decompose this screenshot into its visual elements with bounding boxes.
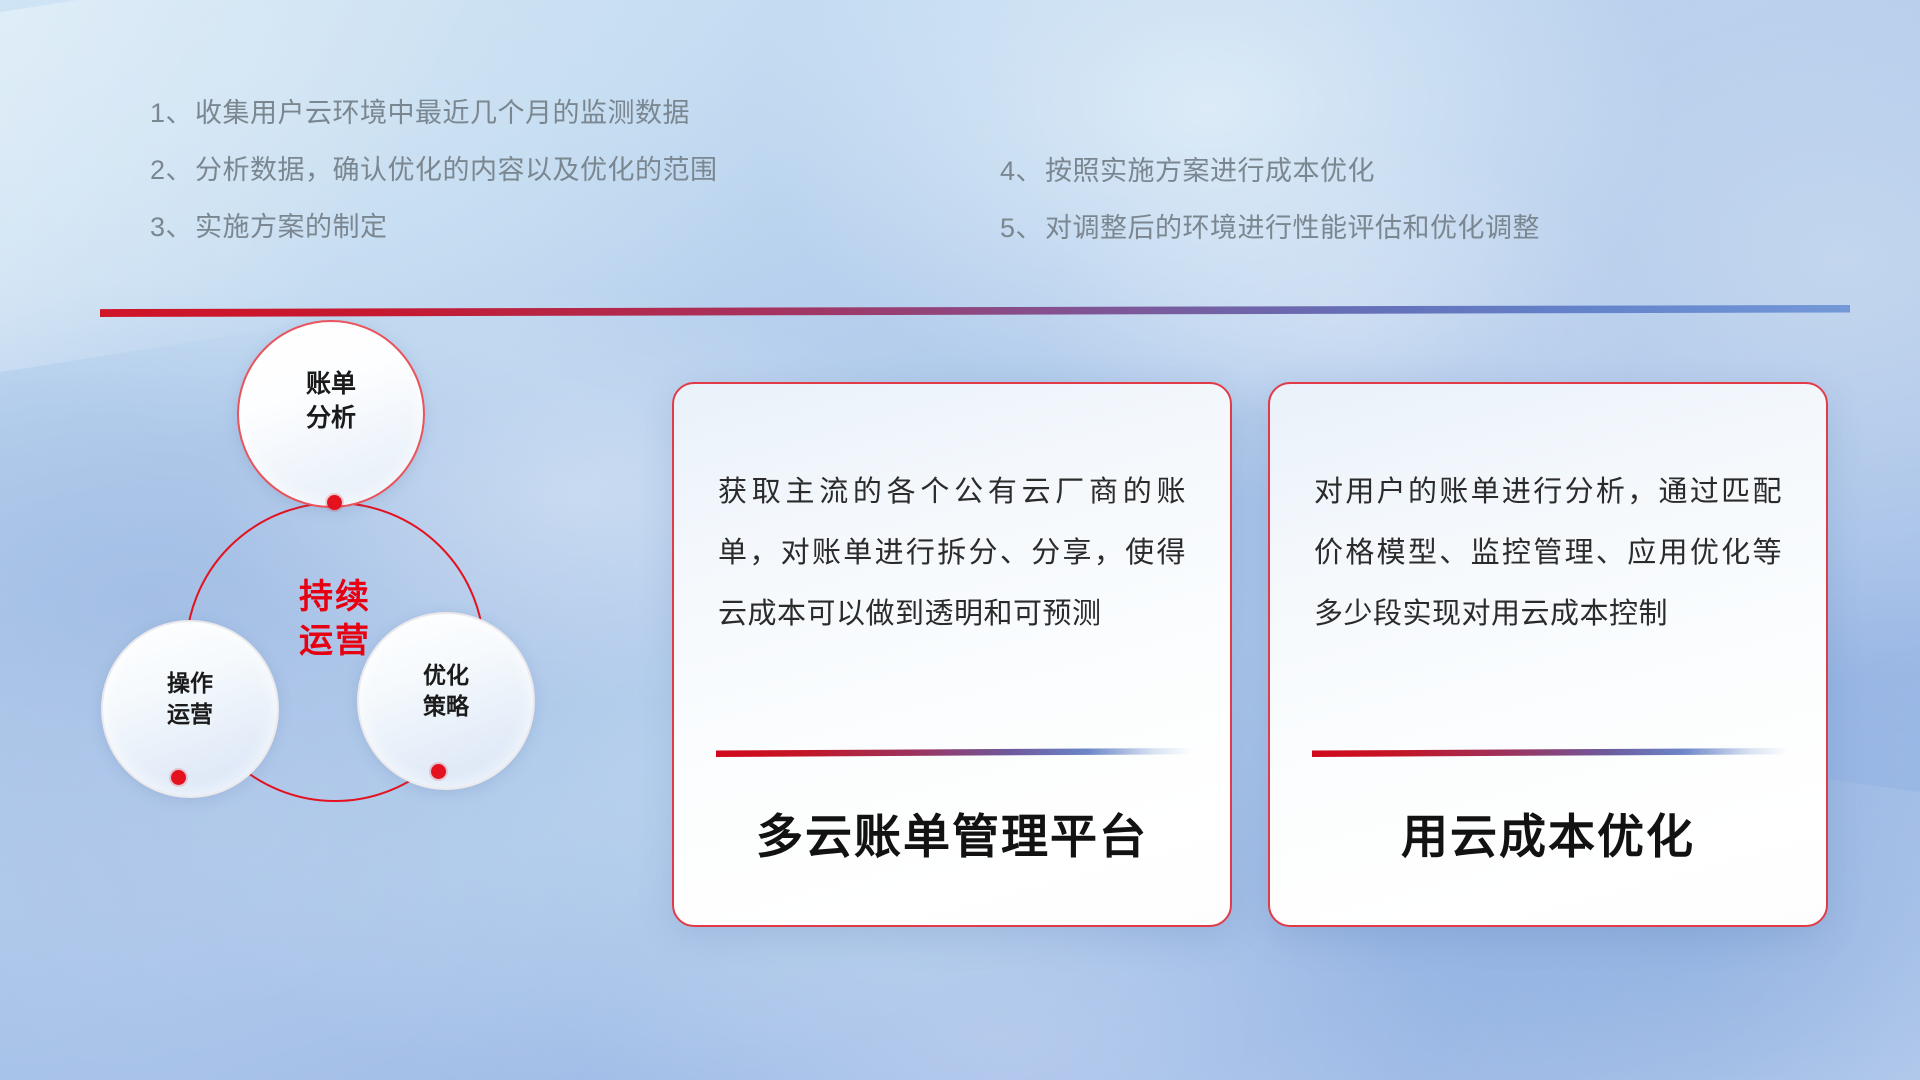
step-number-2: 2、: [150, 155, 193, 185]
venn-diagram: 持续 运营 账单 分析 操作 运营 优化 策略: [95, 340, 595, 920]
venn-connector-dot-top: [327, 495, 342, 510]
venn-node-bill-line2: 分析: [239, 402, 423, 436]
venn-connector-dot-right: [431, 764, 446, 779]
venn-node-opt-line2: 策略: [359, 691, 533, 722]
venn-node-optimization-label: 优化 策略: [359, 660, 533, 722]
venn-connector-dot-left: [171, 770, 186, 785]
slide-canvas: 1、收集用户云环境中最近几个月的监测数据 2、分析数据，确认优化的内容以及优化的…: [0, 0, 1920, 1080]
step-item-4: 4、按照实施方案进行成本优化: [1000, 158, 1540, 185]
feature-card-1-body: 获取主流的各个公有云厂商的账单，对账单进行拆分、分享，使得云成本可以做到透明和可…: [718, 462, 1186, 645]
feature-card-1-title: 多云账单管理平台: [674, 798, 1230, 867]
venn-node-bill-analysis-label: 账单 分析: [239, 368, 423, 436]
step-number-5: 5、: [1000, 213, 1043, 243]
feature-card-2-body: 对用户的账单进行分析，通过匹配价格模型、监控管理、应用优化等多少段实现对用云成本…: [1314, 462, 1782, 645]
venn-node-operations-label: 操作 运营: [103, 668, 277, 730]
venn-node-optimization-strategy[interactable]: 优化 策略: [357, 612, 535, 790]
step-text-5: 对调整后的环境进行性能评估和优化调整: [1045, 213, 1540, 243]
feature-card-multicloud-billing[interactable]: 获取主流的各个公有云厂商的账单，对账单进行拆分、分享，使得云成本可以做到透明和可…: [672, 382, 1232, 927]
step-number-3: 3、: [150, 212, 193, 242]
venn-node-bill-line1: 账单: [239, 368, 423, 402]
venn-node-ops-line1: 操作: [103, 668, 277, 699]
venn-node-bill-analysis[interactable]: 账单 分析: [237, 320, 425, 508]
step-text-2: 分析数据，确认优化的内容以及优化的范围: [195, 155, 718, 185]
venn-node-ops-line2: 运营: [103, 699, 277, 730]
step-text-3: 实施方案的制定: [195, 212, 388, 242]
step-item-5: 5、对调整后的环境进行性能评估和优化调整: [1000, 215, 1540, 242]
step-text-1: 收集用户云环境中最近几个月的监测数据: [195, 98, 690, 128]
steps-list-left: 1、收集用户云环境中最近几个月的监测数据 2、分析数据，确认优化的内容以及优化的…: [150, 100, 718, 271]
venn-node-opt-line1: 优化: [359, 660, 533, 691]
feature-card-2-title: 用云成本优化: [1270, 798, 1826, 867]
step-item-1: 1、收集用户云环境中最近几个月的监测数据: [150, 100, 718, 127]
venn-node-operations[interactable]: 操作 运营: [101, 620, 279, 798]
step-number-1: 1、: [150, 98, 193, 128]
step-item-3: 3、实施方案的制定: [150, 214, 718, 241]
step-text-4: 按照实施方案进行成本优化: [1045, 156, 1375, 186]
step-number-4: 4、: [1000, 156, 1043, 186]
steps-list-right: 4、按照实施方案进行成本优化 5、对调整后的环境进行性能评估和优化调整: [1000, 158, 1540, 272]
step-item-2: 2、分析数据，确认优化的内容以及优化的范围: [150, 157, 718, 184]
feature-card-cost-optimization[interactable]: 对用户的账单进行分析，通过匹配价格模型、监控管理、应用优化等多少段实现对用云成本…: [1268, 382, 1828, 927]
